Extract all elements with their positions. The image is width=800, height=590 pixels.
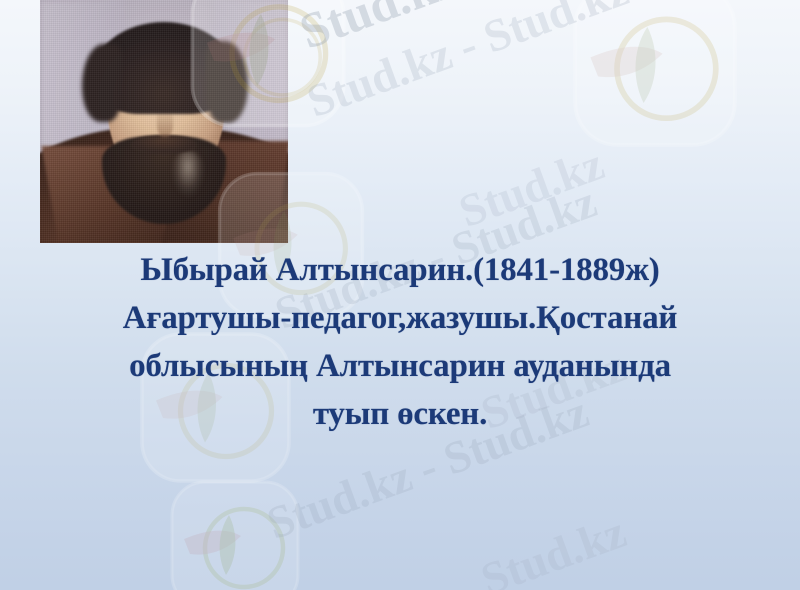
photo-grain [40,0,288,243]
presentation-slide: Stud.kz Stud.kz - Stud.kz Stud.kz Stud.k… [0,0,800,590]
title-line-4: туып өскен. [0,390,800,438]
stud-kz-bird-logo [160,470,310,590]
title-line-2: Ағартушы-педагог,жазушы.Қостанай [0,294,800,342]
title-line-1: Ыбырай Алтынсарин.(1841-1889ж) [0,246,800,294]
slide-title: Ыбырай Алтынсарин.(1841-1889ж) Ағартушы-… [0,246,800,438]
watermark-text: Stud.kz [452,137,611,238]
watermark-text: Stud.kz [292,0,465,61]
title-line-3: облысының Алтынсарин ауданында [0,342,800,390]
stud-kz-bird-logo [560,0,750,160]
watermark-text: Stud.kz [474,505,633,590]
portrait-photo [40,0,288,243]
watermark-text: Stud.kz - Stud.kz [300,0,635,128]
